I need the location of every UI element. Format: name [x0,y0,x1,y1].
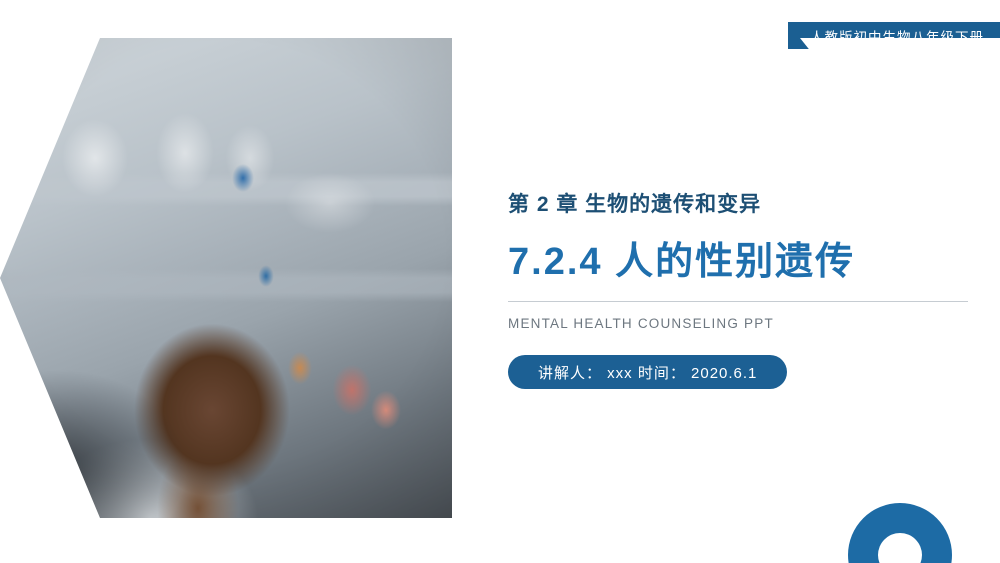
presentation-slide: 人教版初中生物八年级下册 第 2 章 生物的遗传和变异 7.2.4 人的性别遗传… [0,0,1000,563]
title-block: 第 2 章 生物的遗传和变异 7.2.4 人的性别遗传 MENTAL HEALT… [508,188,970,389]
presenter-badge: 讲解人： xxx 时间： 2020.6.1 [508,355,787,389]
title-divider [508,301,968,302]
page-title: 7.2.4 人的性别遗传 [508,230,970,285]
edition-ribbon-label: 人教版初中生物八年级下册 [810,26,984,46]
edition-ribbon: 人教版初中生物八年级下册 [788,22,1000,49]
subtitle-label: MENTAL HEALTH COUNSELING PPT [508,316,970,331]
chapter-label: 第 2 章 生物的遗传和变异 [508,188,970,218]
presenter-badge-label: 讲解人： xxx 时间： 2020.6.1 [538,362,757,383]
decorative-circle [848,503,952,563]
lab-photo [0,38,452,518]
lab-photo-vignette [0,38,452,518]
